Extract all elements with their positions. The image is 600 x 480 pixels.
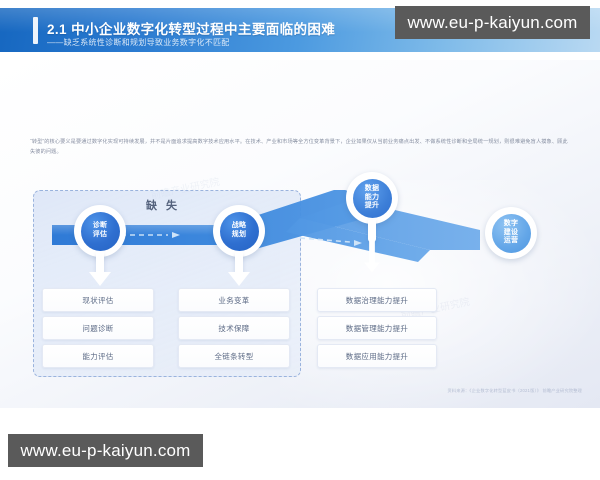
- node-data-capability[interactable]: 数据 能力 提升: [346, 172, 398, 224]
- node-diagnosis[interactable]: 诊断 评估: [74, 205, 126, 257]
- item-capability-assessment[interactable]: 能力评估: [42, 344, 154, 368]
- down-arrow-data-capability-icon: [359, 238, 385, 274]
- node-strategy[interactable]: 战略 规划: [213, 205, 265, 257]
- intro-paragraph: “转型”的核心要义是要通过数字化实现可持续发展，并不是片面追求提高数字技术应用水…: [30, 138, 570, 158]
- node-diagnosis-line2: 评估: [93, 231, 107, 238]
- down-arrow-diagnosis-icon: [87, 252, 113, 288]
- down-arrow-strategy-icon: [226, 252, 252, 288]
- column-diagnosis: 现状评估 问题诊断 能力评估: [42, 288, 154, 368]
- header-accent-bar: [33, 17, 38, 44]
- item-data-application[interactable]: 数据应用能力提升: [317, 344, 437, 368]
- node-strategy-label: 战略 规划: [232, 222, 246, 240]
- page-subtitle: ——缺乏系统性诊断和规划导致业务数字化不匹配: [47, 37, 230, 48]
- item-current-assessment[interactable]: 现状评估: [42, 288, 154, 312]
- node-digital-ops-inner: 数字 建设 运营: [492, 214, 531, 253]
- item-full-chain-transformation[interactable]: 全链条转型: [178, 344, 290, 368]
- node-data-capability-inner: 数据 能力 提升: [353, 179, 392, 218]
- item-business-transformation[interactable]: 业务变革: [178, 288, 290, 312]
- node-digital-ops-label: 数字 建设 运营: [504, 220, 518, 246]
- watermark-bottom: www.eu-p-kaiyun.com: [8, 434, 203, 467]
- item-problem-diagnosis[interactable]: 问题诊断: [42, 316, 154, 340]
- node-digital-ops-line3: 运营: [504, 237, 518, 244]
- node-strategy-line2: 规划: [232, 231, 246, 238]
- source-note: 资料来源：《企业数字化转型蓝皮书（2021版）》 前瞻产业研究院整理: [447, 388, 582, 394]
- node-data-capability-line2: 能力: [365, 194, 379, 201]
- item-technology-assurance[interactable]: 技术保障: [178, 316, 290, 340]
- slide-page: 前瞻产业研究院 前瞻产业研究院 2.1 中小企业数字化转型过程中主要面临的困难 …: [0, 0, 600, 480]
- node-data-capability-line3: 提升: [365, 202, 379, 209]
- node-data-capability-line1: 数据: [365, 185, 379, 192]
- node-digital-ops[interactable]: 数字 建设 运营: [485, 207, 537, 259]
- node-strategy-line1: 战略: [232, 222, 246, 229]
- item-data-management[interactable]: 数据管理能力提升: [317, 316, 437, 340]
- node-digital-ops-line2: 建设: [504, 229, 518, 236]
- page-title: 2.1 中小企业数字化转型过程中主要面临的困难: [47, 18, 335, 38]
- node-diagnosis-inner: 诊断 评估: [81, 212, 120, 251]
- column-data: 数据治理能力提升 数据管理能力提升 数据应用能力提升: [317, 288, 437, 368]
- column-strategy: 业务变革 技术保障 全链条转型: [178, 288, 290, 368]
- watermark-top: www.eu-p-kaiyun.com: [395, 6, 590, 39]
- item-data-governance[interactable]: 数据治理能力提升: [317, 288, 437, 312]
- node-strategy-inner: 战略 规划: [220, 212, 259, 251]
- node-diagnosis-label: 诊断 评估: [93, 222, 107, 240]
- node-digital-ops-line1: 数字: [504, 220, 518, 227]
- node-diagnosis-line1: 诊断: [93, 222, 107, 229]
- node-data-capability-label: 数据 能力 提升: [365, 185, 379, 211]
